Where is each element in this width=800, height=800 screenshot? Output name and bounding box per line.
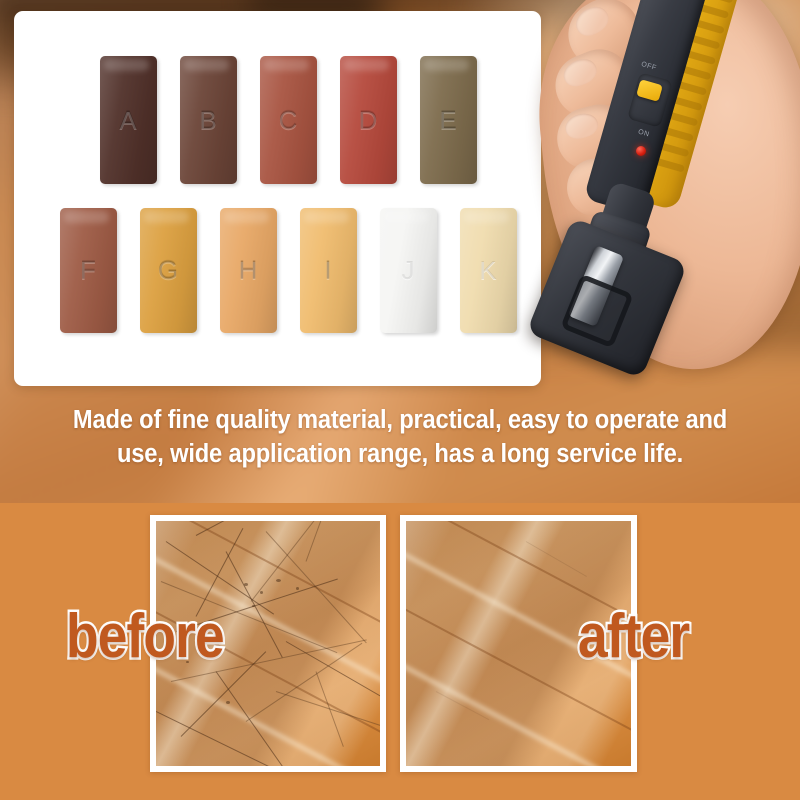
wax-block-row-bottom: FGHIJK	[60, 208, 517, 333]
after-label: after	[578, 601, 689, 672]
wax-block-a: A	[100, 56, 157, 184]
power-led-indicator	[636, 146, 646, 156]
product-marketing-image: ABCDE FGHIJK	[0, 0, 800, 800]
wax-block-b-letter: B	[199, 105, 217, 136]
wax-block-i: I	[300, 208, 357, 333]
wax-block-c-letter: C	[279, 105, 299, 136]
wax-block-h: H	[220, 208, 277, 333]
headline-text: Made of fine quality material, practical…	[28, 404, 772, 472]
wax-block-j-letter: J	[402, 255, 416, 286]
hand-holding-scraper: OFF ON	[505, 0, 800, 390]
wax-block-g: G	[140, 208, 197, 333]
headline-line-2: use, wide application range, has a long …	[28, 438, 772, 472]
wax-block-g-letter: G	[158, 255, 179, 286]
wax-block-f: F	[60, 208, 117, 333]
wax-repair-kit-panel: ABCDE FGHIJK	[14, 11, 541, 386]
wax-block-i-letter: I	[324, 255, 332, 286]
wax-block-e-letter: E	[439, 105, 457, 136]
wax-block-e: E	[420, 56, 477, 184]
before-after-section: before after	[0, 503, 800, 800]
wax-block-c: C	[260, 56, 317, 184]
wax-block-b: B	[180, 56, 237, 184]
wax-block-h-letter: H	[239, 255, 259, 286]
wax-block-d-letter: D	[359, 105, 379, 136]
headline-line-1: Made of fine quality material, practical…	[28, 404, 772, 438]
wax-block-a-letter: A	[119, 105, 137, 136]
before-label: before	[66, 601, 224, 672]
top-product-section: ABCDE FGHIJK	[0, 0, 800, 503]
wax-block-row-top: ABCDE	[100, 56, 477, 184]
wax-block-k-letter: K	[479, 255, 497, 286]
wax-block-f-letter: F	[80, 255, 97, 286]
wax-block-j: J	[380, 208, 437, 333]
wax-block-d: D	[340, 56, 397, 184]
